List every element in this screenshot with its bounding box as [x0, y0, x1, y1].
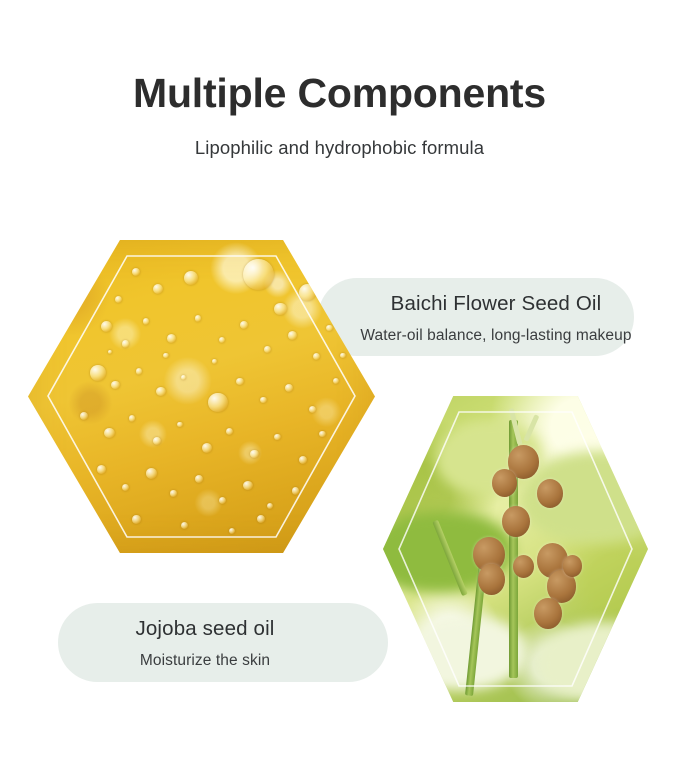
component-name-jojoba: Jojoba seed oil	[58, 603, 352, 640]
component-image-baichi	[28, 240, 375, 553]
jojoba-plant-illustration	[383, 396, 648, 702]
component-card-baichi: Baichi Flower Seed Oil Water-oil balance…	[318, 278, 634, 356]
hexagon-inner-outline-icon	[28, 240, 375, 553]
component-benefit-jojoba: Moisturize the skin	[58, 640, 352, 669]
hexagon-inner-outline-icon	[383, 396, 648, 702]
component-name-baichi: Baichi Flower Seed Oil	[358, 278, 634, 315]
component-image-jojoba	[383, 396, 648, 702]
component-benefit-baichi: Water-oil balance, long-lasting makeup	[358, 315, 634, 344]
components-stage: Baichi Flower Seed Oil Water-oil balance…	[0, 0, 679, 766]
component-card-jojoba: Jojoba seed oil Moisturize the skin	[58, 603, 388, 682]
oil-bubbles-texture	[28, 240, 375, 553]
